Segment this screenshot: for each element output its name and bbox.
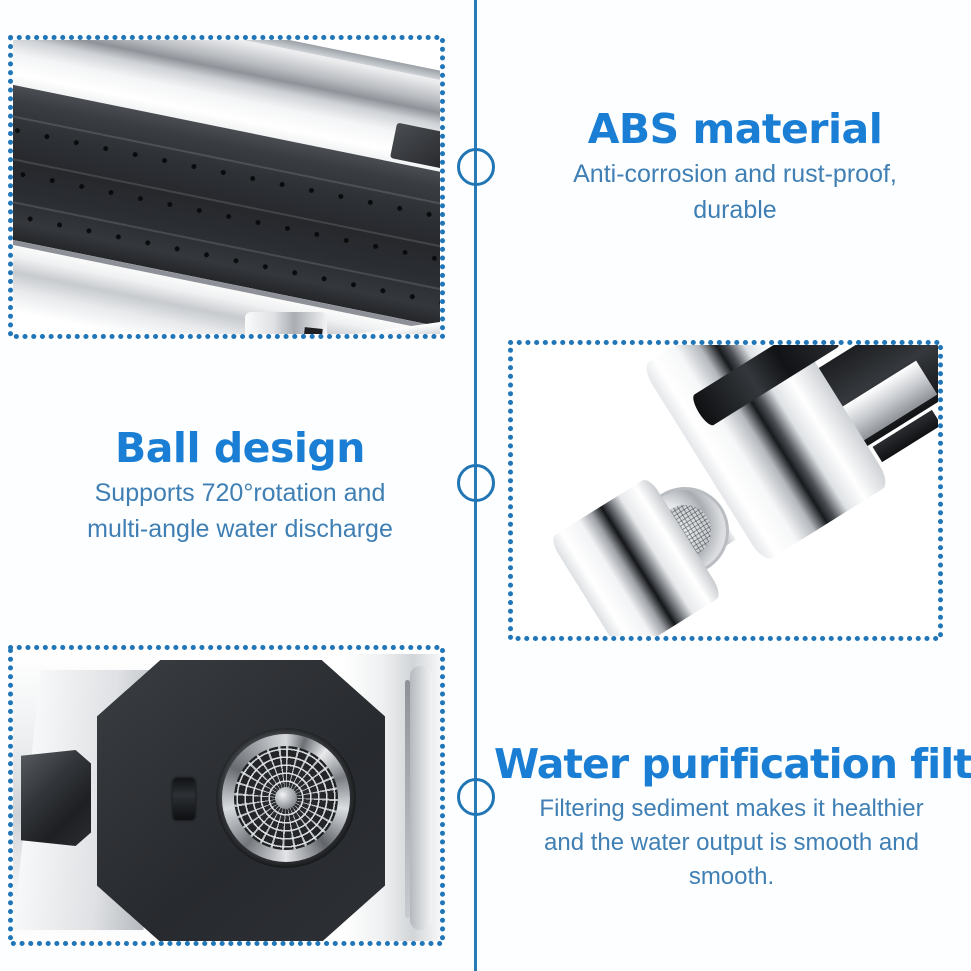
feature-image-panel-abs-material <box>8 35 445 339</box>
feature-text-ball-design: Ball design Supports 720°rotation and mu… <box>30 427 450 547</box>
infographic-root: ABS material Anti-corrosion and rust-pro… <box>0 0 971 971</box>
timeline-node-3 <box>457 778 495 816</box>
timeline-node-1 <box>457 148 495 186</box>
feature-heading-ball-design: Ball design <box>30 427 450 470</box>
feature-body-ball-design-line-2: multi-angle water discharge <box>30 512 450 548</box>
feature-body-ball-design-line-1: Supports 720°rotation and <box>30 476 450 512</box>
product-photo-ball-joint <box>513 345 938 636</box>
product-photo-filter-face <box>13 650 440 941</box>
feature-text-water-purification-filter: Water purification filter Filtering sedi… <box>494 743 969 894</box>
feature-text-abs-material: ABS material Anti-corrosion and rust-pro… <box>505 108 965 228</box>
feature-body-abs-material-line-1: Anti-corrosion and rust-proof, <box>505 157 965 193</box>
feature-heading-abs-material: ABS material <box>505 108 965 151</box>
feature-body-water-purification-filter-line-3: smooth. <box>494 860 969 894</box>
feature-body-abs-material-line-2: durable <box>505 193 965 229</box>
feature-body-water-purification-filter-line-1: Filtering sediment makes it healthier <box>494 792 969 826</box>
feature-image-panel-ball-design <box>508 340 943 641</box>
timeline-node-2 <box>457 464 495 502</box>
feature-image-panel-water-purification-filter <box>8 645 445 946</box>
product-photo-faucet-bar <box>13 40 440 334</box>
feature-heading-water-purification-filter: Water purification filter <box>494 743 969 786</box>
feature-body-water-purification-filter-line-2: and the water output is smooth and <box>494 826 969 860</box>
